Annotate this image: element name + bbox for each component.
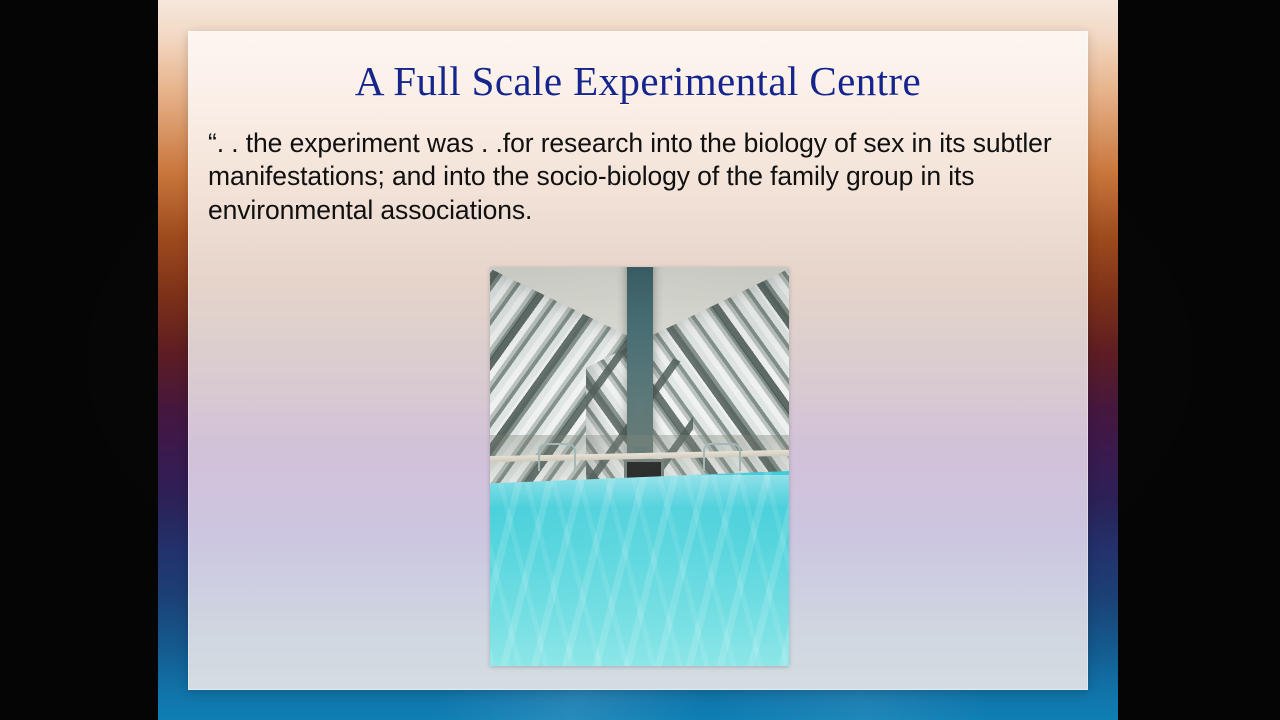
slide-body-text: “. . the experiment was . .for research … (208, 127, 1064, 227)
slide-decorative-frame: A Full Scale Experimental Centre “. . th… (158, 0, 1118, 720)
slide-title: A Full Scale Experimental Centre (188, 59, 1088, 104)
indoor-swimming-pool-photo (490, 267, 789, 666)
presentation-slide: A Full Scale Experimental Centre “. . th… (188, 31, 1088, 690)
photo-color-grade (490, 267, 789, 666)
video-letterbox-stage: A Full Scale Experimental Centre “. . th… (0, 0, 1280, 720)
